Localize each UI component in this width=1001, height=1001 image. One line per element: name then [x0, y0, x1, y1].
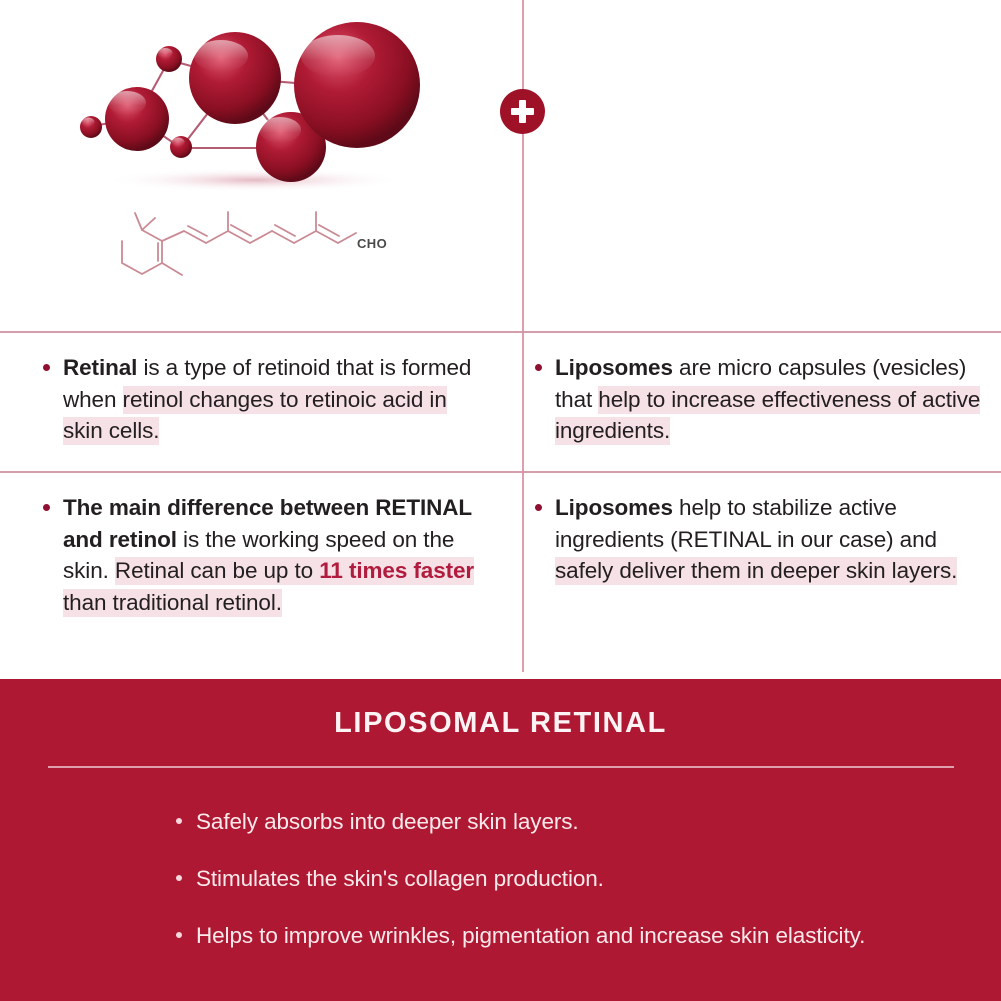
- comparison-row-2-left: The main difference between RETINAL and …: [0, 470, 520, 618]
- retinal-skeletal-formula-icon: [110, 205, 370, 283]
- liposomal-retinal-panel: LIPOSOMAL RETINAL Safely absorbs into de…: [0, 679, 1001, 1001]
- chemical-end-group-label: CHO: [357, 236, 387, 251]
- list-item: The main difference between RETINAL and …: [63, 492, 492, 618]
- bullet-dot-icon: [43, 364, 50, 371]
- liposomes-stabilize-highlight-text: safely deliver them in deeper skin layer…: [555, 557, 957, 585]
- infographic-page: CHO: [0, 0, 1001, 1001]
- list-item: Retinal is a type of retinoid that is fo…: [63, 352, 492, 447]
- times-faster-accent: 11 times faster: [319, 557, 474, 585]
- retinal-illustration-cell: CHO: [0, 0, 520, 330]
- list-item: Helps to improve wrinkles, pigmentation …: [196, 920, 941, 951]
- liposomes-stabilize-bold-lead: Liposomes: [555, 495, 673, 520]
- benefit-text: Helps to improve wrinkles, pigmentation …: [196, 923, 865, 948]
- benefit-text: Safely absorbs into deeper skin layers.: [196, 809, 579, 834]
- list-item: Safely absorbs into deeper skin layers.: [196, 806, 941, 837]
- title-underline-rule: [48, 766, 954, 768]
- plus-badge: [500, 89, 545, 134]
- benefit-text: Stimulates the skin's collagen productio…: [196, 866, 604, 891]
- illustration-row: CHO: [0, 0, 1001, 330]
- comparison-row-1-left: Retinal is a type of retinoid that is fo…: [0, 330, 520, 447]
- plus-icon-vertical: [519, 100, 526, 123]
- liposomes-highlight-text: help to increase effectiveness of active…: [555, 386, 980, 446]
- benefits-list: Safely absorbs into deeper skin layers. …: [0, 806, 1001, 951]
- difference-highlight-pre: Retinal can be up to: [115, 557, 319, 585]
- liposome-illustration-cell: Hydrophilic head Hydropobic tail: [520, 0, 1001, 330]
- bullet-dot-icon: [176, 875, 182, 881]
- bullet-dot-icon: [535, 364, 542, 371]
- retinal-molecule-3d-icon: [55, 0, 435, 200]
- list-item: Stimulates the skin's collagen productio…: [196, 863, 941, 894]
- comparison-row-1: Retinal is a type of retinoid that is fo…: [0, 330, 1001, 470]
- bullet-dot-icon: [176, 818, 182, 824]
- comparison-row-2-right: Liposomes help to stabilize active ingre…: [522, 470, 1001, 587]
- bullet-dot-icon: [43, 504, 50, 511]
- difference-highlight-post: than traditional retinol.: [63, 589, 282, 617]
- retinal-bold-lead: Retinal: [63, 355, 137, 380]
- comparison-row-2: The main difference between RETINAL and …: [0, 470, 1001, 671]
- bullet-dot-icon: [535, 504, 542, 511]
- list-item: Liposomes are micro capsules (vesicles) …: [555, 352, 981, 447]
- bullet-dot-icon: [176, 932, 182, 938]
- comparison-row-1-right: Liposomes are micro capsules (vesicles) …: [522, 330, 1001, 447]
- list-item: Liposomes help to stabilize active ingre…: [555, 492, 981, 587]
- liposomes-bold-lead: Liposomes: [555, 355, 673, 380]
- page-title: LIPOSOMAL RETINAL: [0, 707, 1001, 740]
